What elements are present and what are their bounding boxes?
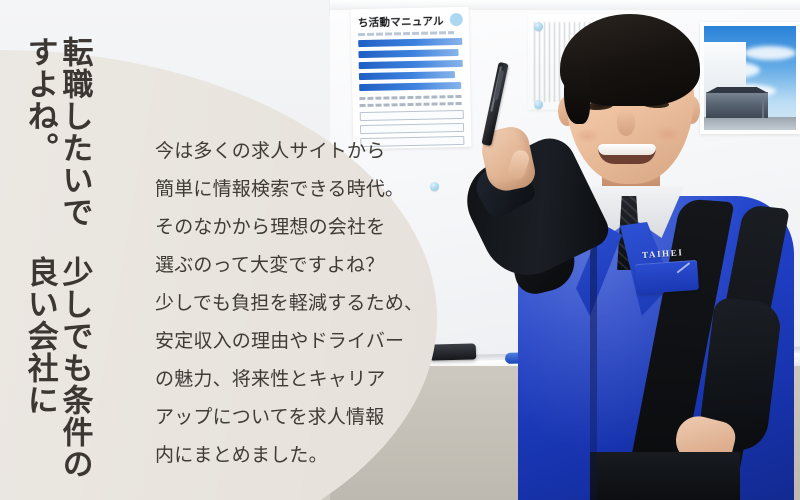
hero-banner: ち活動マニュアル xyxy=(0,0,800,500)
heading-column-1: 少しでも条件の良い会社に xyxy=(22,246,91,500)
hero-heading: 少しでも条件の良い会社に 転職したいですよね。 xyxy=(22,14,91,500)
body-line: 簡単に情報検索できる時代。 xyxy=(155,170,423,208)
poster-bar xyxy=(358,38,462,47)
body-line: そのなかから理想の会社を xyxy=(155,208,423,246)
body-line: アップについてを求人情報 xyxy=(155,398,423,436)
poster-activity-manual: ち活動マニュアル xyxy=(351,7,472,149)
nose xyxy=(617,110,635,136)
body-line: 内にまとめました。 xyxy=(155,436,423,474)
poster-box xyxy=(360,110,464,121)
poster-title: ち活動マニュアル xyxy=(358,13,462,30)
poster-subtitle-lines xyxy=(358,31,454,36)
hero-body-text: 今は多くの求人サイトから 簡単に情報検索できる時代。 そのなかから理想の会社を … xyxy=(155,132,423,474)
body-line: の魅力、将来性とキャリア xyxy=(155,360,423,398)
poster-bar xyxy=(358,49,458,58)
teeth xyxy=(598,144,656,155)
poster-bar xyxy=(359,60,463,69)
poster-bar-group xyxy=(358,38,463,91)
poster-line xyxy=(360,102,464,107)
poster-text-lines xyxy=(359,95,463,107)
jacket-chest-pocket xyxy=(635,260,699,294)
cheek-left xyxy=(574,128,600,144)
mouth xyxy=(598,144,656,164)
heading-column-2: 転職したいですよね。 xyxy=(22,14,91,240)
hair xyxy=(560,14,700,106)
body-line: 安定収入の理由やドライバー xyxy=(155,322,423,360)
body-line: 選ぶのって大変ですよね？ xyxy=(155,246,423,284)
jacket-zipper xyxy=(590,240,597,500)
poster-line xyxy=(359,95,463,100)
poster-bar xyxy=(359,71,455,80)
body-line: 今は多くの求人サイトから xyxy=(155,132,423,170)
cheek-right xyxy=(654,126,680,142)
person-photo: TAIHEI xyxy=(470,0,800,500)
body-line: 少しでも負担を軽減するため、 xyxy=(155,284,423,322)
poster-bar xyxy=(359,82,461,91)
magnet-icon xyxy=(430,182,439,191)
trousers xyxy=(590,452,740,500)
